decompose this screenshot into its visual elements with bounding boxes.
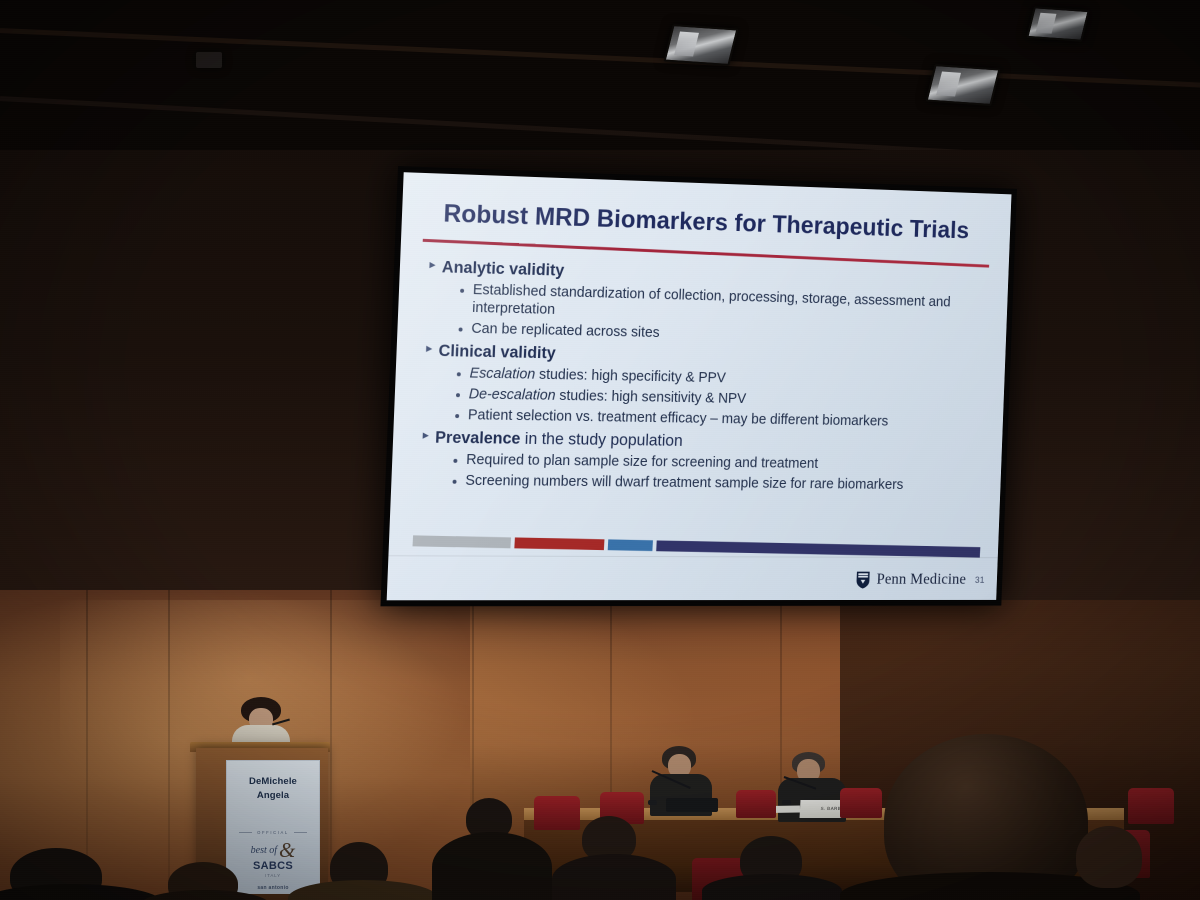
audience-shoulders <box>432 832 552 900</box>
bullet-text: Can be replicated across sites <box>471 320 660 342</box>
bullet-level2: Required to plan sample size for screeni… <box>453 451 987 475</box>
screen-frame: Robust MRD Biomarkers for Therapeutic Tr… <box>380 166 1017 606</box>
bullet-text: Prevalence in the study population <box>435 428 683 451</box>
theatre-chair <box>736 790 776 818</box>
event-logo-conference: SABCS <box>227 860 319 872</box>
navy-segment <box>656 540 980 557</box>
dot-bullet-icon <box>460 288 464 292</box>
bullet-emphasis: De-escalation <box>468 386 555 403</box>
theatre-chair <box>840 788 882 818</box>
spotlight-lens <box>936 71 961 96</box>
event-logo: OFFICIAL best of & SABCS ITALY san anton… <box>227 830 319 895</box>
bullet-text: Required to plan sample size for screeni… <box>466 451 819 473</box>
microphone-base <box>648 800 657 805</box>
ceiling-spotlight <box>196 52 222 68</box>
audience-head <box>1076 826 1142 888</box>
bullet-rest: studies: high sensitivity & NPV <box>555 388 746 407</box>
gray-segment <box>413 535 512 548</box>
dot-bullet-icon <box>457 372 461 376</box>
dot-bullet-icon <box>453 479 457 483</box>
spotlight-lens <box>674 31 699 56</box>
ceiling-spotlight <box>1026 6 1090 41</box>
bullet-text: Patient selection vs. treatment efficacy… <box>468 406 889 430</box>
speaker-first-name: Angela <box>227 789 319 803</box>
triangle-bullet-icon: ▸ <box>423 428 429 445</box>
ampersand-glyph: & <box>279 838 295 863</box>
wall-panel-seam <box>330 590 332 900</box>
wall-panel-seam <box>168 590 170 900</box>
theatre-chair <box>534 796 580 830</box>
podium-name-sign: DeMichele Angela OFFICIAL best of & SABC… <box>226 760 320 894</box>
dot-bullet-icon <box>455 414 459 418</box>
wall-panel-seam <box>86 590 88 900</box>
event-logo-official: OFFICIAL <box>227 830 319 835</box>
microphone-base <box>782 800 791 805</box>
laptop <box>666 798 718 812</box>
triangle-bullet-icon: ▸ <box>429 257 435 274</box>
dot-bullet-icon <box>456 393 460 397</box>
red-segment <box>514 537 604 550</box>
speaker-last-name: DeMichele <box>227 775 319 789</box>
slide-footer: Penn Medicine 31 <box>856 571 985 588</box>
audience-shoulders <box>702 874 842 900</box>
penn-medicine-wordmark: Penn Medicine <box>876 571 966 588</box>
penn-shield-icon <box>856 571 870 588</box>
slide-page-number: 31 <box>975 575 985 585</box>
event-logo-country: ITALY <box>227 873 319 878</box>
event-logo-bestof-text: best of <box>251 845 277 856</box>
blue-segment <box>608 539 653 551</box>
projection-screen: Robust MRD Biomarkers for Therapeutic Tr… <box>398 166 1070 618</box>
bullet-text: Analytic validity <box>442 257 565 280</box>
triangle-bullet-icon: ▸ <box>426 341 432 358</box>
bullet-level2: Screening numbers will dwarf treatment s… <box>452 471 986 494</box>
bullet-emphasis: Escalation <box>469 365 535 382</box>
audience-shoulders <box>552 854 676 900</box>
bullet-text: Escalation studies: high specificity & P… <box>469 364 726 387</box>
bullet-text: Screening numbers will dwarf treatment s… <box>465 471 904 493</box>
slide-accent-bar <box>413 535 981 557</box>
bullet-text: De-escalation studies: high sensitivity … <box>468 385 746 408</box>
dot-bullet-icon <box>459 327 463 331</box>
presentation-slide: Robust MRD Biomarkers for Therapeutic Tr… <box>387 172 1012 600</box>
dot-bullet-icon <box>453 458 457 462</box>
slide-title: Robust MRD Biomarkers for Therapeutic Tr… <box>443 200 989 246</box>
auditorium-photo: Robust MRD Biomarkers for Therapeutic Tr… <box>0 0 1200 900</box>
bullet-text: Clinical validity <box>438 341 556 363</box>
theatre-chair <box>1128 788 1174 824</box>
spotlight-lens <box>1036 13 1057 34</box>
bullet-rest: studies: high specificity & PPV <box>535 367 726 386</box>
slide-body: ▸ Analytic validity Established standard… <box>415 253 995 497</box>
bullet-lead: Prevalence <box>435 429 521 448</box>
ceiling-spotlight <box>925 64 1000 106</box>
bullet-rest: in the study population <box>520 430 683 450</box>
ceiling-spotlight <box>663 24 738 66</box>
